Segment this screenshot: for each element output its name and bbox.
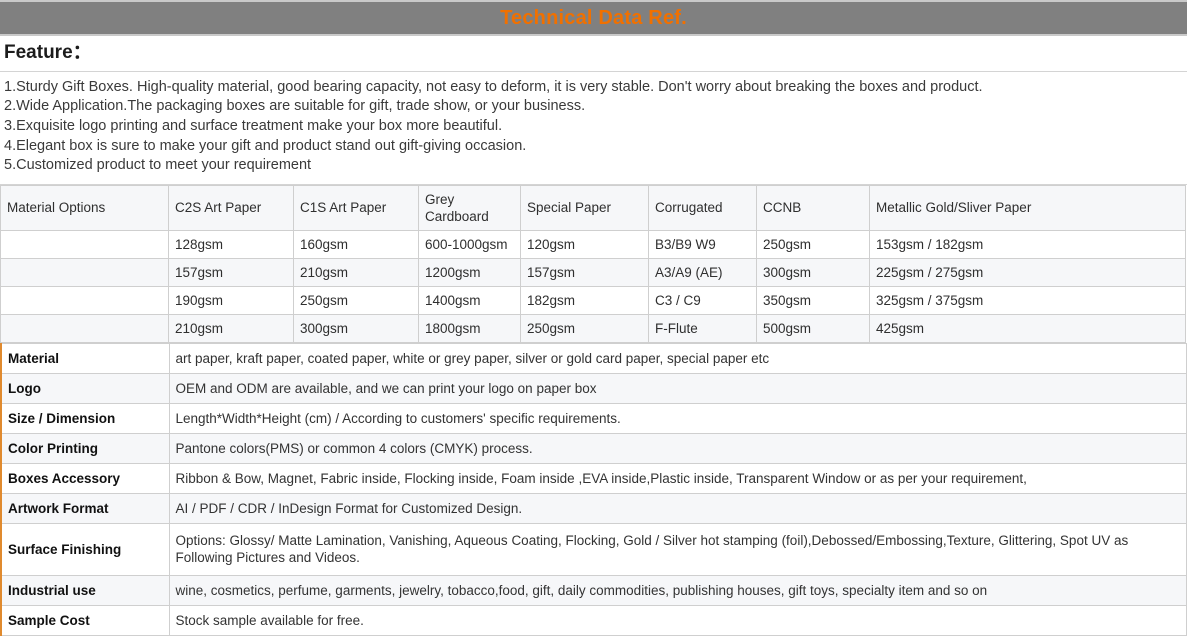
feature-line: 2.Wide Application.The packaging boxes a… (4, 97, 1183, 117)
material-cell: C3 / C9 (649, 286, 757, 314)
material-cell: 157gsm (521, 258, 649, 286)
material-header-cell: Grey Cardboard (419, 185, 521, 230)
feature-line: 1.Sturdy Gift Boxes. High-quality materi… (4, 78, 1183, 98)
material-cell: 157gsm (169, 258, 294, 286)
material-cell: 182gsm (521, 286, 649, 314)
page-title: Technical Data Ref. (500, 8, 687, 28)
technical-data-sheet: Technical Data Ref. Feature： 1.Sturdy Gi… (0, 0, 1187, 620)
feature-line: 3.Exquisite logo printing and surface tr… (4, 117, 1183, 137)
material-cell: F-Flute (649, 314, 757, 342)
spec-value: Length*Width*Height (cm) / According to … (169, 403, 1186, 433)
material-cell: 600-1000gsm (419, 230, 521, 258)
spec-label: Boxes Accessory (1, 463, 169, 493)
feature-heading-row: Feature： (0, 36, 1187, 72)
spec-label: Artwork Format (1, 493, 169, 523)
material-header-cell: C2S Art Paper (169, 185, 294, 230)
material-cell: 210gsm (294, 258, 419, 286)
spec-label: Material (1, 343, 169, 373)
table-row: Artwork Format AI / PDF / CDR / InDesign… (1, 493, 1186, 523)
spec-value: AI / PDF / CDR / InDesign Format for Cus… (169, 493, 1186, 523)
material-header-cell: Metallic Gold/Sliver Paper (870, 185, 1186, 230)
spec-value: OEM and ODM are available, and we can pr… (169, 373, 1186, 403)
material-cell: 500gsm (757, 314, 870, 342)
spec-value: wine, cosmetics, perfume, garments, jewe… (169, 575, 1186, 605)
feature-list: 1.Sturdy Gift Boxes. High-quality materi… (0, 72, 1187, 185)
material-cell: 160gsm (294, 230, 419, 258)
material-cell (1, 314, 169, 342)
title-banner: Technical Data Ref. (0, 0, 1187, 36)
material-options-table: Material Options C2S Art Paper C1S Art P… (0, 185, 1186, 343)
material-cell: 210gsm (169, 314, 294, 342)
feature-line: 4.Elegant box is sure to make your gift … (4, 137, 1183, 157)
material-cell: 325gsm / 375gsm (870, 286, 1186, 314)
material-header-cell: Corrugated (649, 185, 757, 230)
table-row: Sample Cost Stock sample available for f… (1, 605, 1186, 635)
feature-heading: Feature： (4, 42, 92, 63)
table-row: Industrial use wine, cosmetics, perfume,… (1, 575, 1186, 605)
spec-label: Color Printing (1, 433, 169, 463)
material-cell: A3/A9 (AE) (649, 258, 757, 286)
spec-label: Logo (1, 373, 169, 403)
material-cell: 190gsm (169, 286, 294, 314)
table-row: 157gsm 210gsm 1200gsm 157gsm A3/A9 (AE) … (1, 258, 1186, 286)
material-cell (1, 286, 169, 314)
spec-value: Options: Glossy/ Matte Lamination, Vanis… (169, 523, 1186, 575)
spec-value: Ribbon & Bow, Magnet, Fabric inside, Flo… (169, 463, 1186, 493)
material-header-cell: Special Paper (521, 185, 649, 230)
table-row: Size / Dimension Length*Width*Height (cm… (1, 403, 1186, 433)
material-cell: 153gsm / 182gsm (870, 230, 1186, 258)
table-row: Material art paper, kraft paper, coated … (1, 343, 1186, 373)
material-cell: 300gsm (294, 314, 419, 342)
material-header-cell: C1S Art Paper (294, 185, 419, 230)
table-row: Surface Finishing Options: Glossy/ Matte… (1, 523, 1186, 575)
spec-value: Stock sample available for free. (169, 605, 1186, 635)
spec-label: Size / Dimension (1, 403, 169, 433)
material-cell: 350gsm (757, 286, 870, 314)
material-header-cell: CCNB (757, 185, 870, 230)
material-cell: 1800gsm (419, 314, 521, 342)
material-cell: B3/B9 W9 (649, 230, 757, 258)
table-row: 128gsm 160gsm 600-1000gsm 120gsm B3/B9 W… (1, 230, 1186, 258)
material-cell: 225gsm / 275gsm (870, 258, 1186, 286)
material-cell: 128gsm (169, 230, 294, 258)
spec-value: Pantone colors(PMS) or common 4 colors (… (169, 433, 1186, 463)
spec-value: art paper, kraft paper, coated paper, wh… (169, 343, 1186, 373)
material-cell: 300gsm (757, 258, 870, 286)
table-row: 190gsm 250gsm 1400gsm 182gsm C3 / C9 350… (1, 286, 1186, 314)
table-row: Boxes Accessory Ribbon & Bow, Magnet, Fa… (1, 463, 1186, 493)
material-cell: 250gsm (521, 314, 649, 342)
table-row: Logo OEM and ODM are available, and we c… (1, 373, 1186, 403)
material-cell: 120gsm (521, 230, 649, 258)
material-cell: 1400gsm (419, 286, 521, 314)
specification-table: Material art paper, kraft paper, coated … (0, 343, 1187, 636)
table-row: 210gsm 300gsm 1800gsm 250gsm F-Flute 500… (1, 314, 1186, 342)
material-table-header-row: Material Options C2S Art Paper C1S Art P… (1, 185, 1186, 230)
material-cell: 250gsm (757, 230, 870, 258)
material-header-cell: Material Options (1, 185, 169, 230)
spec-label: Sample Cost (1, 605, 169, 635)
spec-label: Industrial use (1, 575, 169, 605)
material-cell: 1200gsm (419, 258, 521, 286)
material-cell (1, 230, 169, 258)
material-cell (1, 258, 169, 286)
feature-line: 5.Customized product to meet your requir… (4, 156, 1183, 176)
material-cell: 250gsm (294, 286, 419, 314)
material-cell: 425gsm (870, 314, 1186, 342)
spec-label: Surface Finishing (1, 523, 169, 575)
table-row: Color Printing Pantone colors(PMS) or co… (1, 433, 1186, 463)
